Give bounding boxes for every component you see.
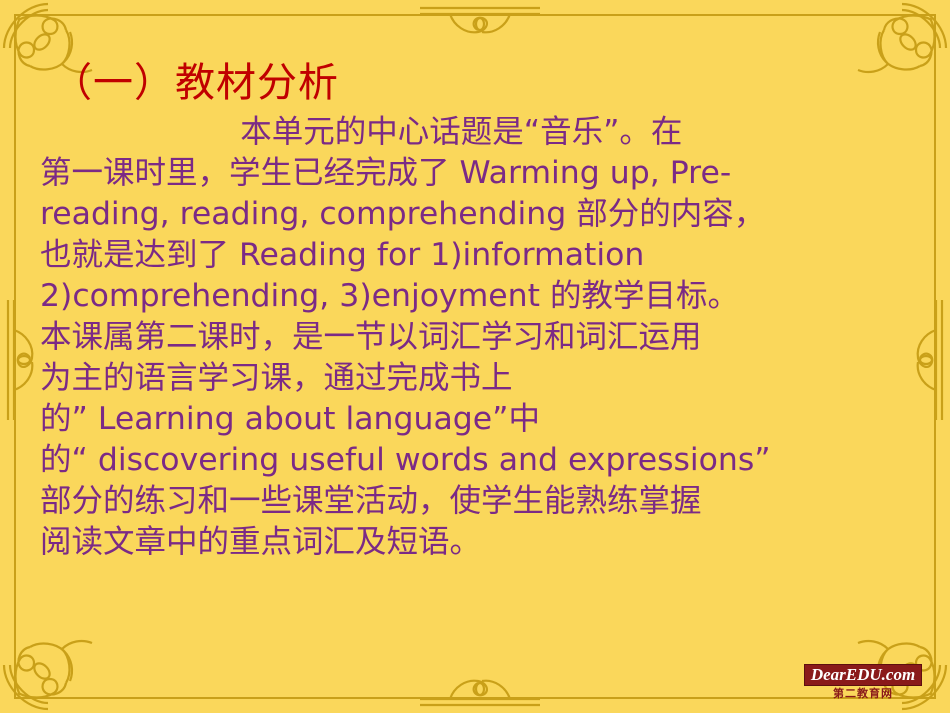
watermark-logo: DearEDU.com	[804, 664, 922, 686]
side-ornament-bottom	[420, 673, 540, 713]
slide-canvas: （一）教材分析 本单元的中心话题是“音乐”。在 第一课时里，学生已经完成了 Wa…	[0, 0, 950, 713]
watermark: DearEDU.com 第二教育网	[798, 664, 928, 699]
side-ornament-top	[420, 0, 540, 40]
corner-ornament-bottom-left	[0, 617, 96, 713]
watermark-subtitle: 第二教育网	[798, 688, 928, 699]
slide-body-text: 本单元的中心话题是“音乐”。在 第一课时里，学生已经完成了 Warming up…	[40, 112, 920, 563]
side-ornament-left	[0, 300, 40, 420]
slide-title: （一）教材分析	[52, 50, 339, 108]
corner-ornament-top-right	[854, 0, 950, 96]
